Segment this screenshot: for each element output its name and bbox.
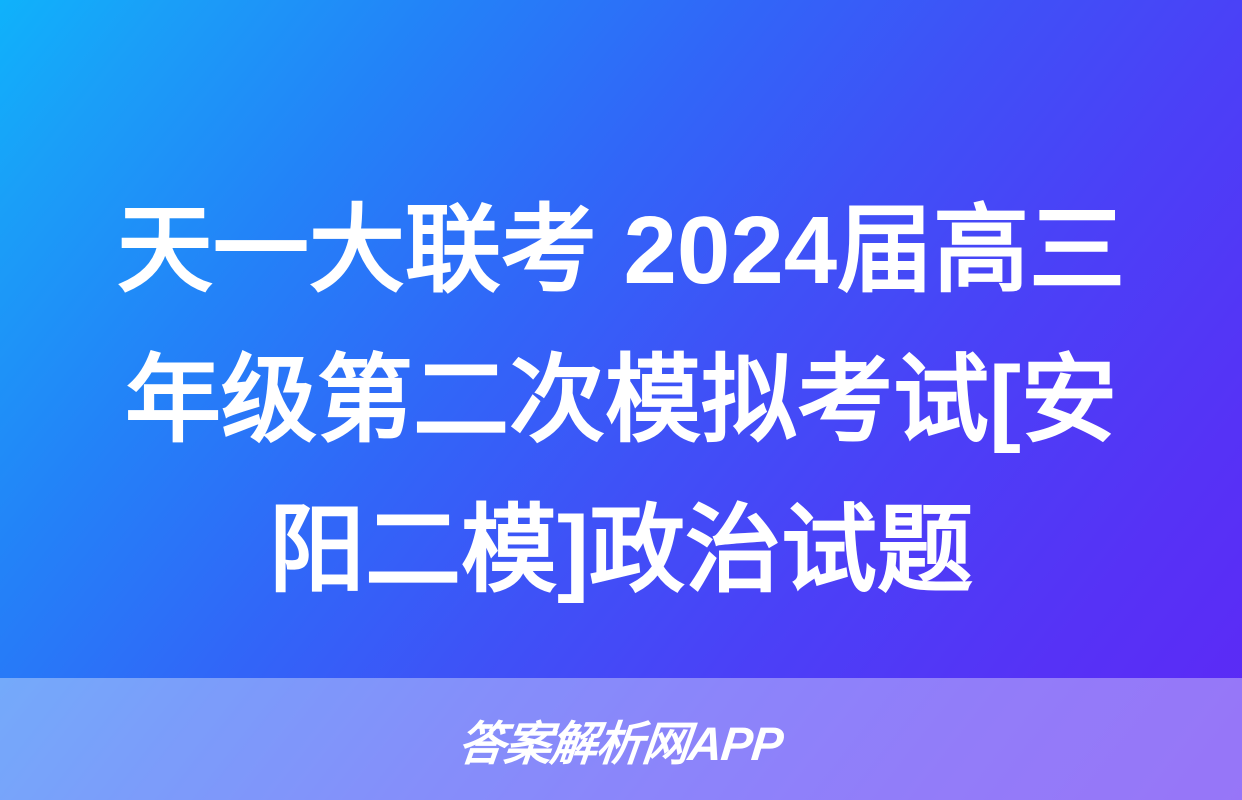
- title-line-3: 阳二模]政治试题: [269, 476, 973, 626]
- title-line-2: 年级第二次模拟考试[安: [125, 326, 1117, 476]
- page-title: 天一大联考 2024届高三 年级第二次模拟考试[安 阳二模]政治试题: [0, 176, 1242, 626]
- watermark-band: 答案解析网APP: [0, 678, 1242, 800]
- title-line-1: 天一大联考 2024届高三: [117, 176, 1125, 326]
- exam-title-card: 天一大联考 2024届高三 年级第二次模拟考试[安 阳二模]政治试题 答案解析网…: [0, 0, 1242, 800]
- watermark-label: 答案解析网APP: [456, 705, 787, 774]
